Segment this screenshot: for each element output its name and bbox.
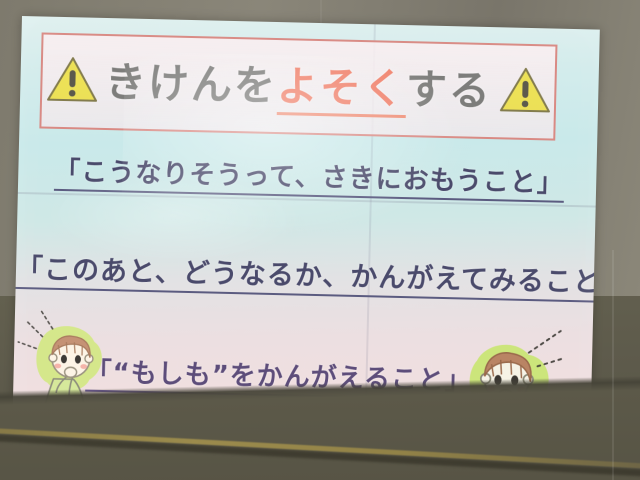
warning-triangle-icon — [44, 54, 99, 109]
page-title: きけんをよそくする — [104, 61, 492, 111]
warning-triangle-icon — [497, 64, 552, 119]
wall-panel-seam — [612, 250, 614, 480]
slide-title-box: きけんをよそくする — [39, 32, 557, 140]
title-suffix: する — [405, 65, 492, 115]
slide-line-2: 「このあと、どうなるか、かんがえてみること」 — [16, 256, 600, 304]
projected-slide-area: きけんをよそくする 「こうなりそうって、さきにおもうこと」 「このあと、どうなる… — [12, 16, 599, 438]
title-highlight: よそく — [276, 62, 406, 118]
title-prefix: きけんを — [104, 57, 277, 109]
slide-surface: きけんをよそくする 「こうなりそうって、さきにおもうこと」 「このあと、どうなる… — [12, 16, 599, 438]
photo-scene: きけんをよそくする 「こうなりそうって、さきにおもうこと」 「このあと、どうなる… — [0, 0, 640, 480]
